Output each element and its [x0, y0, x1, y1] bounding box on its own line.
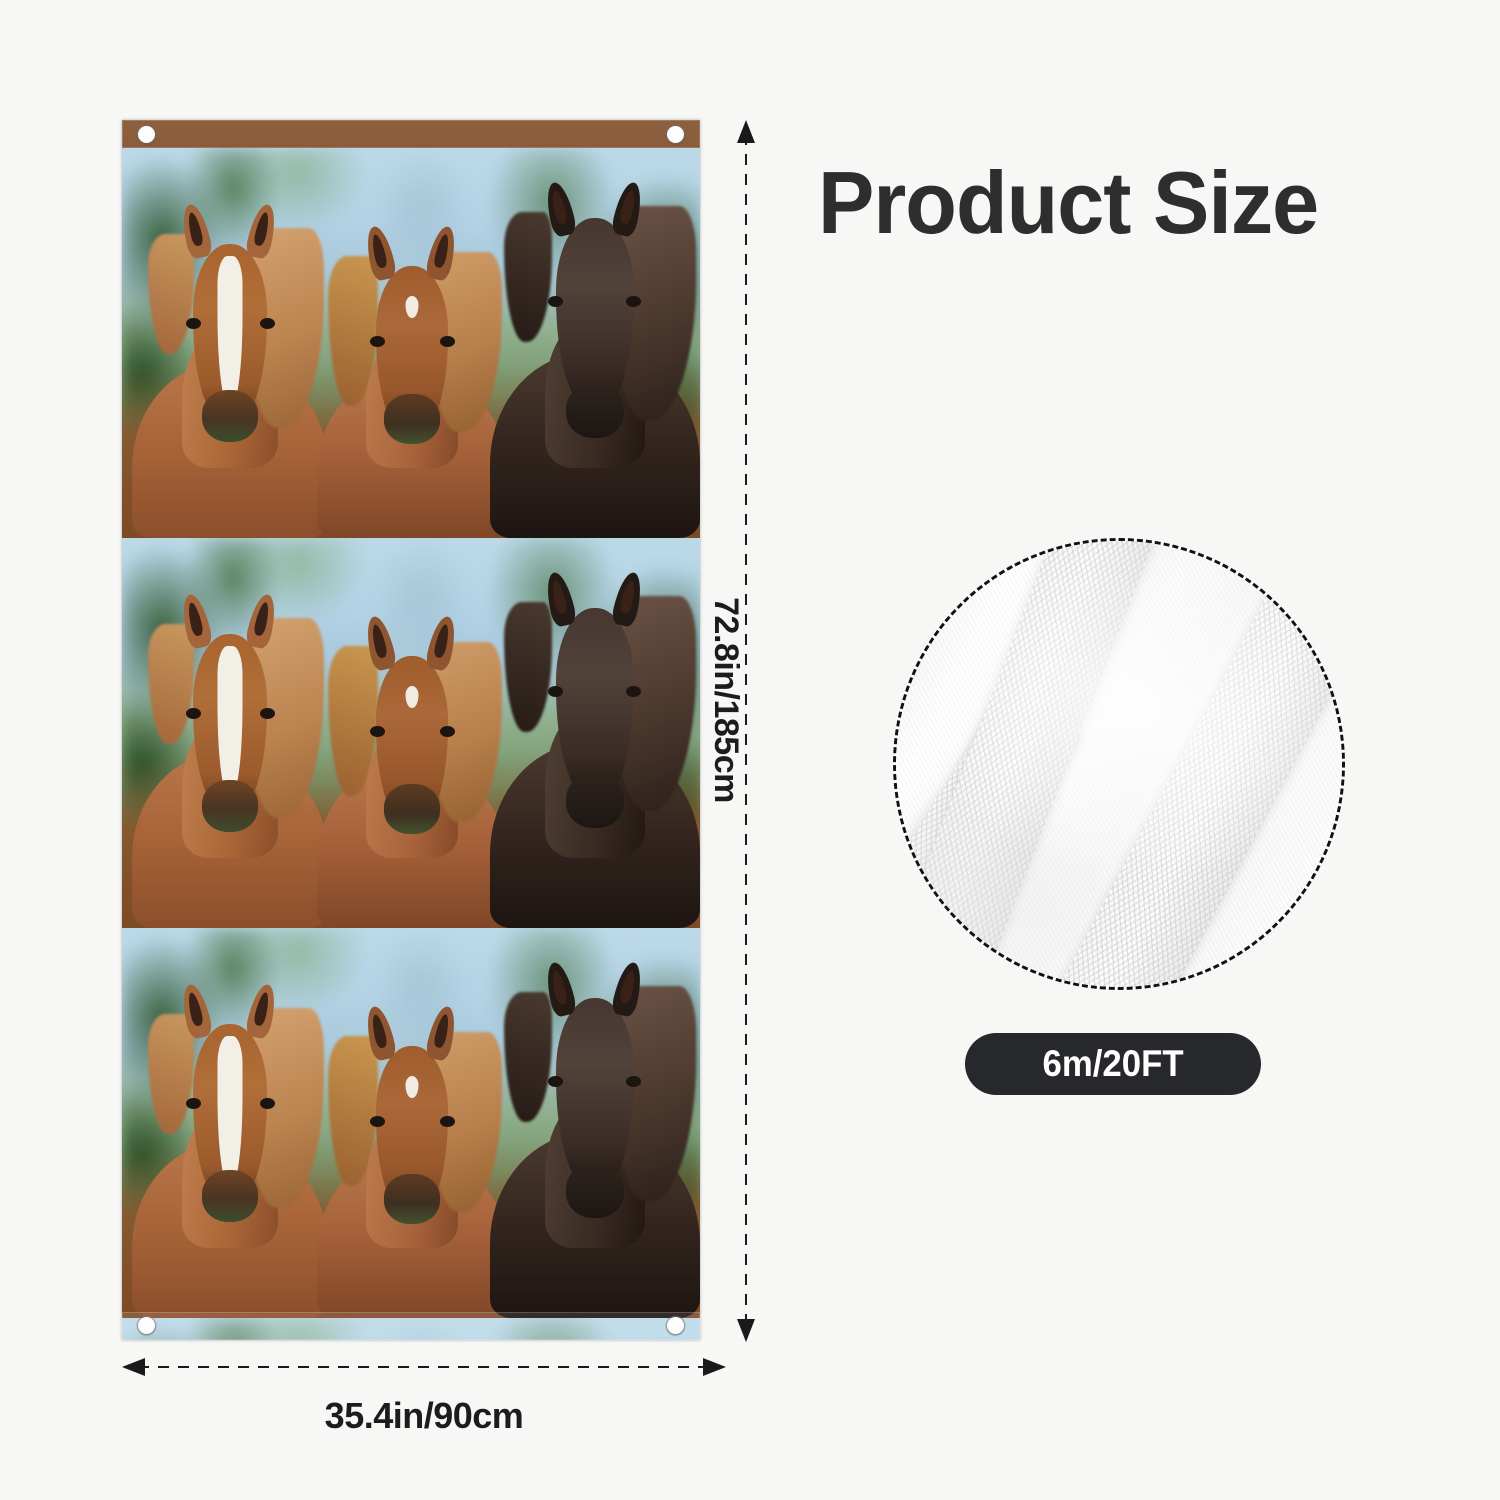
width-dimension-label: 35.4in/90cm [122, 1395, 726, 1437]
horse-head [556, 218, 634, 408]
banner-hem-top [122, 120, 700, 148]
horse-chestnut-star [312, 208, 512, 538]
banner-hem-bottom [122, 1312, 700, 1340]
horse-dark-bay [490, 188, 700, 538]
horse-eye-left [370, 1116, 385, 1127]
horse-photo [122, 148, 700, 538]
horse-muzzle [202, 390, 258, 442]
horse-eye-right [626, 1076, 641, 1087]
rope-highlight [896, 541, 1342, 987]
horse-mane-left [148, 1014, 194, 1134]
horse-mane-left [504, 992, 552, 1122]
horse-muzzle [384, 1174, 440, 1224]
horse-eye-right [260, 318, 275, 329]
horse-chestnut-blaze [130, 588, 330, 928]
horse-chestnut-blaze [130, 978, 330, 1318]
horse-eye-left [186, 318, 201, 329]
horse-eye-left [370, 336, 385, 347]
grommet-icon [667, 1317, 684, 1334]
horse-chestnut-star [312, 988, 512, 1318]
horse-photo [122, 538, 700, 928]
banner-product-image [122, 120, 700, 1340]
horse-muzzle [384, 784, 440, 834]
product-size-infographic: 72.8in/185cm 35.4in/90cm Product Size 6m… [0, 0, 1500, 1500]
horse-mane-left [148, 624, 194, 744]
horse-muzzle [384, 394, 440, 444]
horse-muzzle [202, 1170, 258, 1222]
dashed-line [138, 1366, 710, 1368]
horse-eye-left [370, 726, 385, 737]
width-dimension-line [122, 1366, 726, 1368]
rope-length-label: 6m/20FT [1042, 1043, 1183, 1085]
horse-muzzle [566, 774, 624, 828]
horse-eye-left [186, 708, 201, 719]
horse-eye-right [440, 1116, 455, 1127]
grommet-icon [138, 126, 155, 143]
horse-muzzle [202, 780, 258, 832]
arrow-down-icon [737, 1319, 755, 1342]
height-dimension-line [745, 120, 747, 1342]
horse-chestnut-star [312, 598, 512, 928]
dashed-line [745, 134, 747, 1328]
rope-length-badge: 6m/20FT [965, 1033, 1261, 1095]
horse-mane-left [504, 602, 552, 732]
horse-chestnut-blaze [130, 198, 330, 538]
horse-eye-right [260, 708, 275, 719]
horse-dark-bay [490, 578, 700, 928]
banner-fabric [122, 120, 700, 1340]
page-title: Product Size [818, 152, 1318, 254]
horse-eye-right [440, 726, 455, 737]
horse-muzzle [566, 384, 624, 438]
horse-eye-left [548, 1076, 563, 1087]
height-dimension-label: 72.8in/185cm [706, 597, 745, 803]
photo-tile [122, 928, 700, 1318]
grommet-icon [138, 1317, 155, 1334]
horse-dark-bay [490, 968, 700, 1318]
horse-eye-left [548, 296, 563, 307]
horse-eye-right [260, 1098, 275, 1109]
horse-mane-left [148, 234, 194, 354]
horse-mane-left [504, 212, 552, 342]
rope-detail-inset [893, 538, 1345, 990]
photo-tile [122, 538, 700, 928]
horse-eye-right [626, 296, 641, 307]
photo-tile [122, 148, 700, 538]
horse-muzzle [566, 1164, 624, 1218]
grommet-icon [667, 126, 684, 143]
horse-eye-right [440, 336, 455, 347]
horse-photo [122, 928, 700, 1318]
horse-eye-right [626, 686, 641, 697]
horse-eye-left [186, 1098, 201, 1109]
arrow-right-icon [703, 1358, 726, 1376]
horse-eye-left [548, 686, 563, 697]
horse-head [556, 998, 634, 1188]
horse-head [556, 608, 634, 798]
